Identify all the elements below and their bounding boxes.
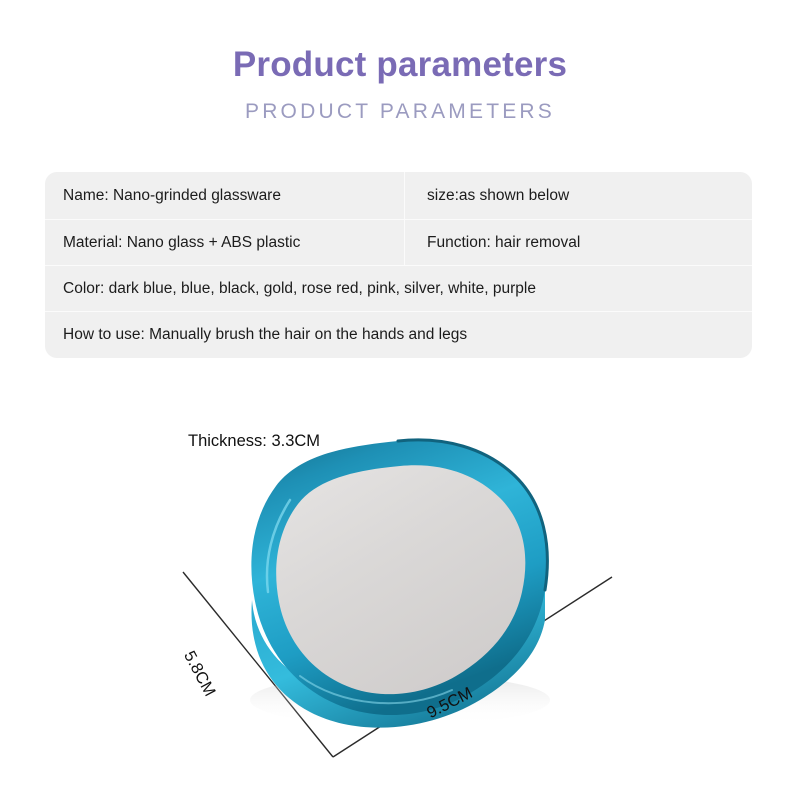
- product-illustration: [0, 0, 800, 800]
- thickness-dimension-label: Thickness: 3.3CM: [188, 432, 320, 451]
